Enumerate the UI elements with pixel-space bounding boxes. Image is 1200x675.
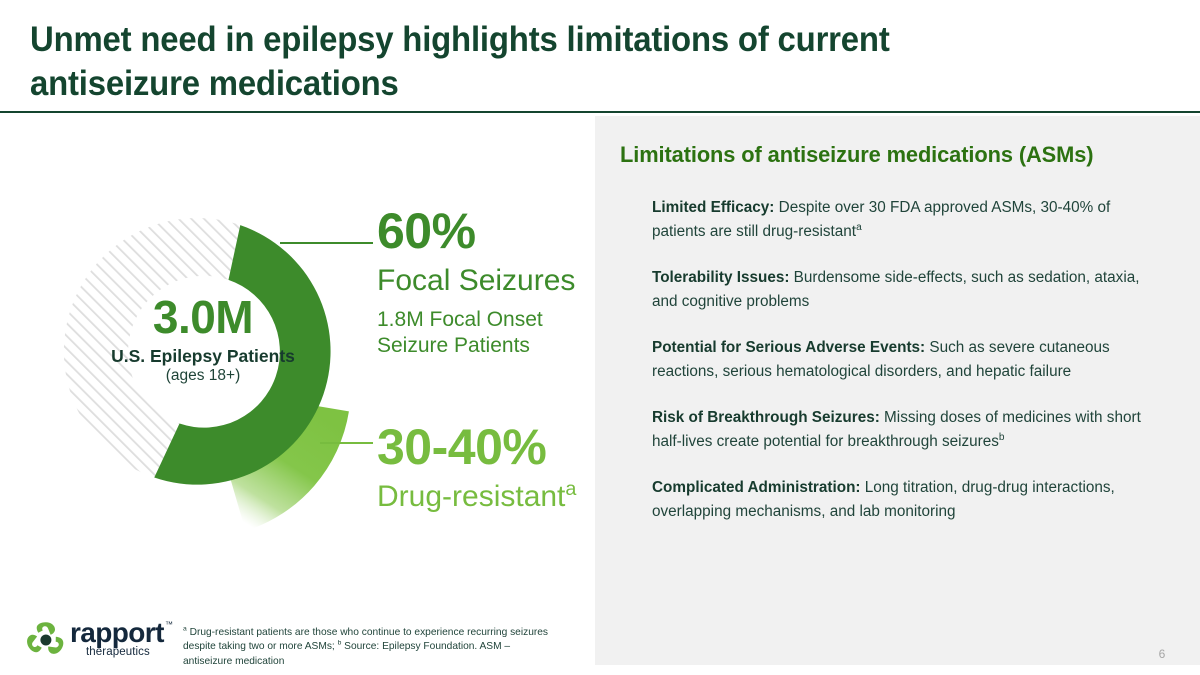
callout-focal-title: Focal Seizures [377,264,592,298]
limitation-label: Risk of Breakthrough Seizures: [652,409,880,426]
callout-focal-seizures: 60% Focal Seizures 1.8M Focal Onset Seiz… [377,206,592,359]
donut-center-value: 3.0M [108,294,298,340]
callout-drug-resistant: 30-40% Drug-resistanta [377,422,592,514]
leader-line-focal-seizures [280,242,373,244]
limitation-label: Potential for Serious Adverse Events: [652,339,925,356]
limitation-item: Limited Efficacy: Despite over 30 FDA ap… [652,196,1164,244]
limitation-label: Complicated Administration: [652,479,861,496]
donut-center-label-group: 3.0M U.S. Epilepsy Patients (ages 18+) [108,294,298,385]
rapport-pinwheel-icon [26,621,66,659]
callout-focal-value: 60% [377,206,592,256]
limitation-label: Limited Efficacy: [652,199,774,216]
limitations-list: Limited Efficacy: Despite over 30 FDA ap… [652,196,1164,524]
footnote: a Drug-resistant patients are those who … [183,626,553,669]
page-number: 6 [1150,647,1174,661]
donut-center-sublabel: (ages 18+) [108,367,298,385]
limitation-footnote-marker: b [999,432,1005,443]
limitation-footnote-marker: a [856,222,862,233]
page-title: Unmet need in epilepsy highlights limita… [30,18,961,106]
callout-drug-resistant-title: Drug-resistanta [377,480,592,514]
limitations-panel: Limitations of antiseizure medications (… [595,116,1200,665]
rapport-wordmark: rapport [70,619,164,647]
limitation-item: Tolerability Issues: Burdensome side-eff… [652,266,1164,314]
leader-line-drug-resistant [320,442,373,444]
limitation-item: Potential for Serious Adverse Events: Su… [652,336,1164,384]
header-divider [0,111,1200,113]
limitation-item: Risk of Breakthrough Seizures: Missing d… [652,406,1164,454]
limitation-item: Complicated Administration: Long titrati… [652,476,1164,524]
callout-drug-resistant-footnote-marker: a [565,478,576,500]
rapport-tagline: therapeutics [86,647,150,659]
callout-focal-detail: 1.8M Focal Onset Seizure Patients [377,307,592,360]
rapport-logo[interactable]: rapport ™ therapeutics [26,618,176,664]
callout-drug-resistant-title-text: Drug-resistant [377,480,565,513]
callout-drug-resistant-value: 30-40% [377,422,592,472]
limitations-heading: Limitations of antiseizure medications (… [620,142,1163,168]
donut-center-label: U.S. Epilepsy Patients [108,346,298,366]
limitation-label: Tolerability Issues: [652,269,789,286]
trademark-symbol: ™ [165,620,173,629]
